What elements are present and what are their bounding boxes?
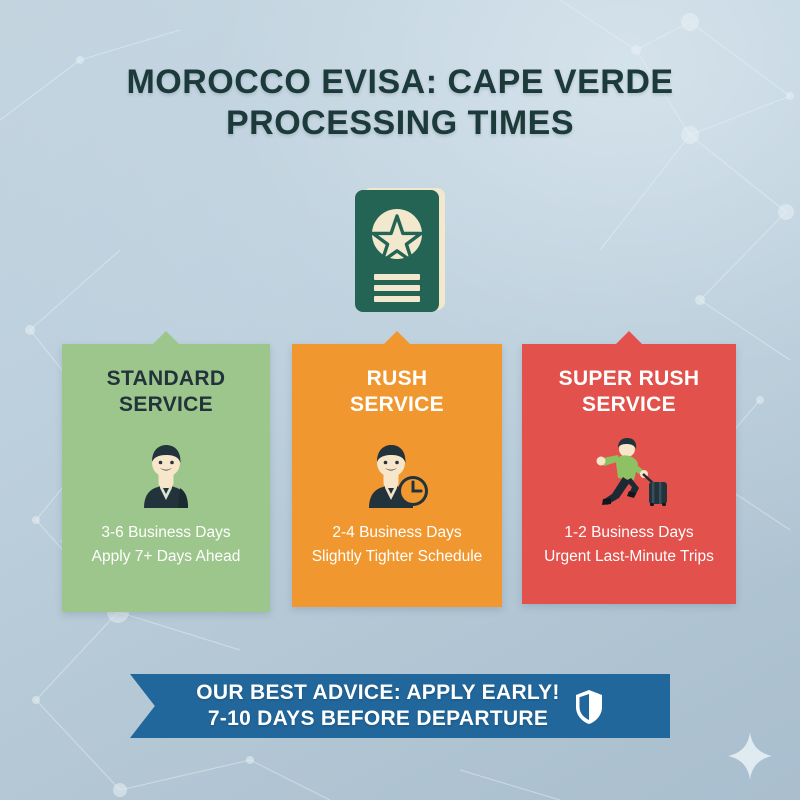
page-title-line-2: PROCESSING TIMES (0, 103, 800, 144)
person-with-clock-icon (292, 433, 502, 511)
suitcase-icon (649, 482, 667, 504)
banner-text-line-2: 7-10 DAYS BEFORE DEPARTURE (196, 706, 559, 732)
card-desc-superrush-line-2: Urgent Last-Minute Trips (522, 545, 736, 569)
banner-text: OUR BEST ADVICE: APPLY EARLY! 7-10 DAYS … (196, 680, 559, 731)
card-desc-rush: 2-4 Business Days Slightly Tighter Sched… (292, 521, 502, 569)
card-title-superrush-line-1: SUPER RUSH (559, 367, 700, 390)
card-desc-standard-line-1: 3-6 Business Days (101, 524, 230, 541)
card-desc-superrush: 1-2 Business Days Urgent Last-Minute Tri… (522, 521, 736, 569)
card-notch-superrush (616, 331, 642, 344)
person-smiling-icon (62, 433, 270, 511)
infographic-canvas: MOROCCO EVISA: CAPE VERDE PROCESSING TIM… (0, 0, 800, 800)
card-desc-superrush-line-1: 1-2 Business Days (564, 524, 693, 541)
running-traveler-icon (522, 433, 736, 511)
card-desc-standard: 3-6 Business Days Apply 7+ Days Ahead (62, 521, 270, 569)
card-title-rush-line-1: RUSH (367, 367, 428, 390)
advice-banner[interactable]: OUR BEST ADVICE: APPLY EARLY! 7-10 DAYS … (130, 674, 670, 738)
card-title-superrush-line-2: SERVICE (530, 392, 728, 418)
page-title-line-1: MOROCCO EVISA: CAPE VERDE (0, 62, 800, 103)
service-cards: STANDARD SERVICE 3-6 Business Days (0, 344, 800, 619)
card-title-rush-line-2: SERVICE (300, 392, 494, 418)
card-desc-standard-line-2: Apply 7+ Days Ahead (62, 545, 270, 569)
card-title-superrush: SUPER RUSH SERVICE (530, 366, 728, 419)
passport-icon (350, 186, 450, 314)
banner-text-line-1: OUR BEST ADVICE: APPLY EARLY! (196, 681, 559, 704)
service-card-superrush[interactable]: SUPER RUSH SERVICE (522, 344, 736, 604)
card-title-rush: RUSH SERVICE (300, 366, 494, 419)
card-desc-rush-line-1: 2-4 Business Days (332, 524, 461, 541)
card-title-standard: STANDARD SERVICE (70, 366, 262, 419)
card-notch-standard (153, 331, 179, 344)
shield-icon (574, 689, 604, 725)
service-card-standard[interactable]: STANDARD SERVICE 3-6 Business Days (62, 344, 270, 612)
page-title: MOROCCO EVISA: CAPE VERDE PROCESSING TIM… (0, 62, 800, 145)
card-desc-rush-line-2: Slightly Tighter Schedule (292, 545, 502, 569)
four-point-star-sparkle (726, 730, 774, 782)
card-title-standard-line-2: SERVICE (70, 392, 262, 418)
service-card-rush[interactable]: RUSH SERVICE 2-4 (292, 344, 502, 607)
card-notch-rush (384, 331, 410, 344)
card-title-standard-line-1: STANDARD (107, 367, 226, 390)
